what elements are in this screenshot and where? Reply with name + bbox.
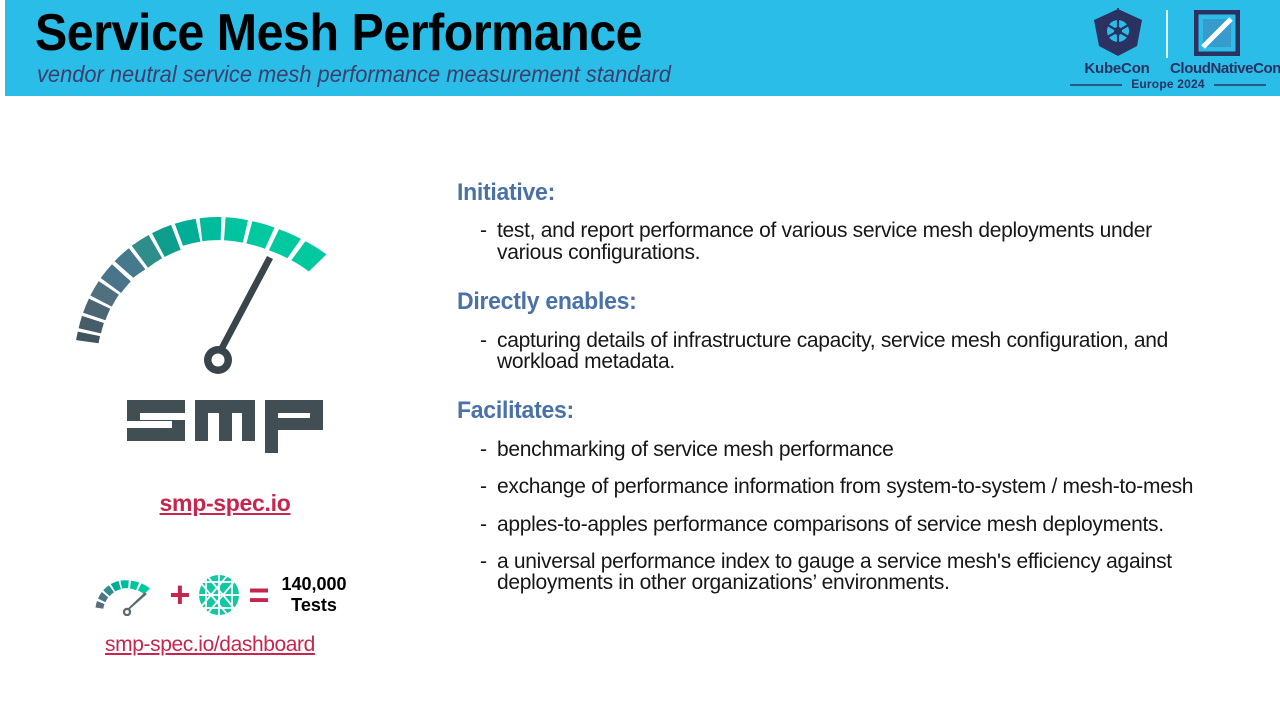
- list-item: - test, and report performance of variou…: [457, 220, 1217, 263]
- title-banner: Service Mesh Performance vendor neutral …: [5, 0, 1280, 96]
- bullet-marker: -: [457, 551, 497, 572]
- bullet-marker: -: [457, 439, 497, 460]
- list-item: - exchange of performance information fr…: [457, 476, 1217, 497]
- bullet-text: exchange of performance information from…: [497, 476, 1217, 497]
- bullet-text: test, and report performance of various …: [497, 220, 1217, 263]
- bullet-marker: -: [457, 514, 497, 535]
- page-subtitle: vendor neutral service mesh performance …: [37, 63, 671, 86]
- tests-equation: + =: [55, 565, 385, 625]
- smp-spec-link[interactable]: smp-spec.io: [0, 490, 450, 517]
- bullet-marker: -: [457, 476, 497, 497]
- section-heading-initiative: Initiative:: [457, 180, 1187, 206]
- bullet-marker: -: [457, 330, 497, 351]
- list-item: - capturing details of infrastructure ca…: [457, 330, 1217, 373]
- page-title: Service Mesh Performance: [35, 6, 642, 61]
- list-item: - benchmarking of service mesh performan…: [457, 439, 1217, 460]
- slide: Service Mesh Performance vendor neutral …: [0, 0, 1280, 720]
- section-heading-facilitates: Facilitates:: [457, 398, 1187, 424]
- equals-symbol: =: [248, 577, 269, 613]
- bullet-text: apples-to-apples performance comparisons…: [497, 514, 1217, 535]
- logo-cloudnativecon-label: CloudNativeCon: [1170, 60, 1268, 77]
- bullet-text: capturing details of infrastructure capa…: [497, 330, 1217, 373]
- smp-wordmark-glyphs: [125, 388, 325, 454]
- meshery-sphere-icon: [198, 574, 240, 616]
- conference-logo: KubeCon CloudNativeCon Europe 2024: [1068, 6, 1268, 92]
- smp-dashboard-link[interactable]: smp-spec.io/dashboard: [0, 633, 420, 657]
- bullet-text: benchmarking of service mesh performance: [497, 439, 1217, 460]
- small-gauge-icon: [93, 574, 161, 616]
- left-column: smp-spec.io +: [0, 110, 450, 710]
- bullet-marker: -: [457, 220, 497, 241]
- logo-location-year: Europe 2024: [1068, 77, 1268, 91]
- smp-wordmark: [0, 388, 450, 458]
- cloudnativecon-square-icon: [1194, 10, 1240, 56]
- tests-count-value: 140,000: [281, 574, 346, 595]
- logo-vertical-divider: [1166, 10, 1168, 58]
- section-heading-directly-enables: Directly enables:: [457, 289, 1187, 315]
- tests-count-label: Tests: [281, 595, 346, 616]
- list-item: - a universal performance index to gauge…: [457, 551, 1217, 594]
- list-item: - apples-to-apples performance compariso…: [457, 514, 1217, 535]
- tests-count: 140,000 Tests: [281, 574, 346, 616]
- plus-symbol: +: [169, 577, 190, 613]
- smp-speedometer-gauge-icon: [58, 210, 378, 380]
- content-column: Initiative: - test, and report performan…: [457, 180, 1217, 594]
- bullet-text: a universal performance index to gauge a…: [497, 551, 1217, 594]
- logo-kubecon-label: KubeCon: [1068, 60, 1166, 77]
- kubernetes-helm-wheel-icon: [1090, 8, 1146, 58]
